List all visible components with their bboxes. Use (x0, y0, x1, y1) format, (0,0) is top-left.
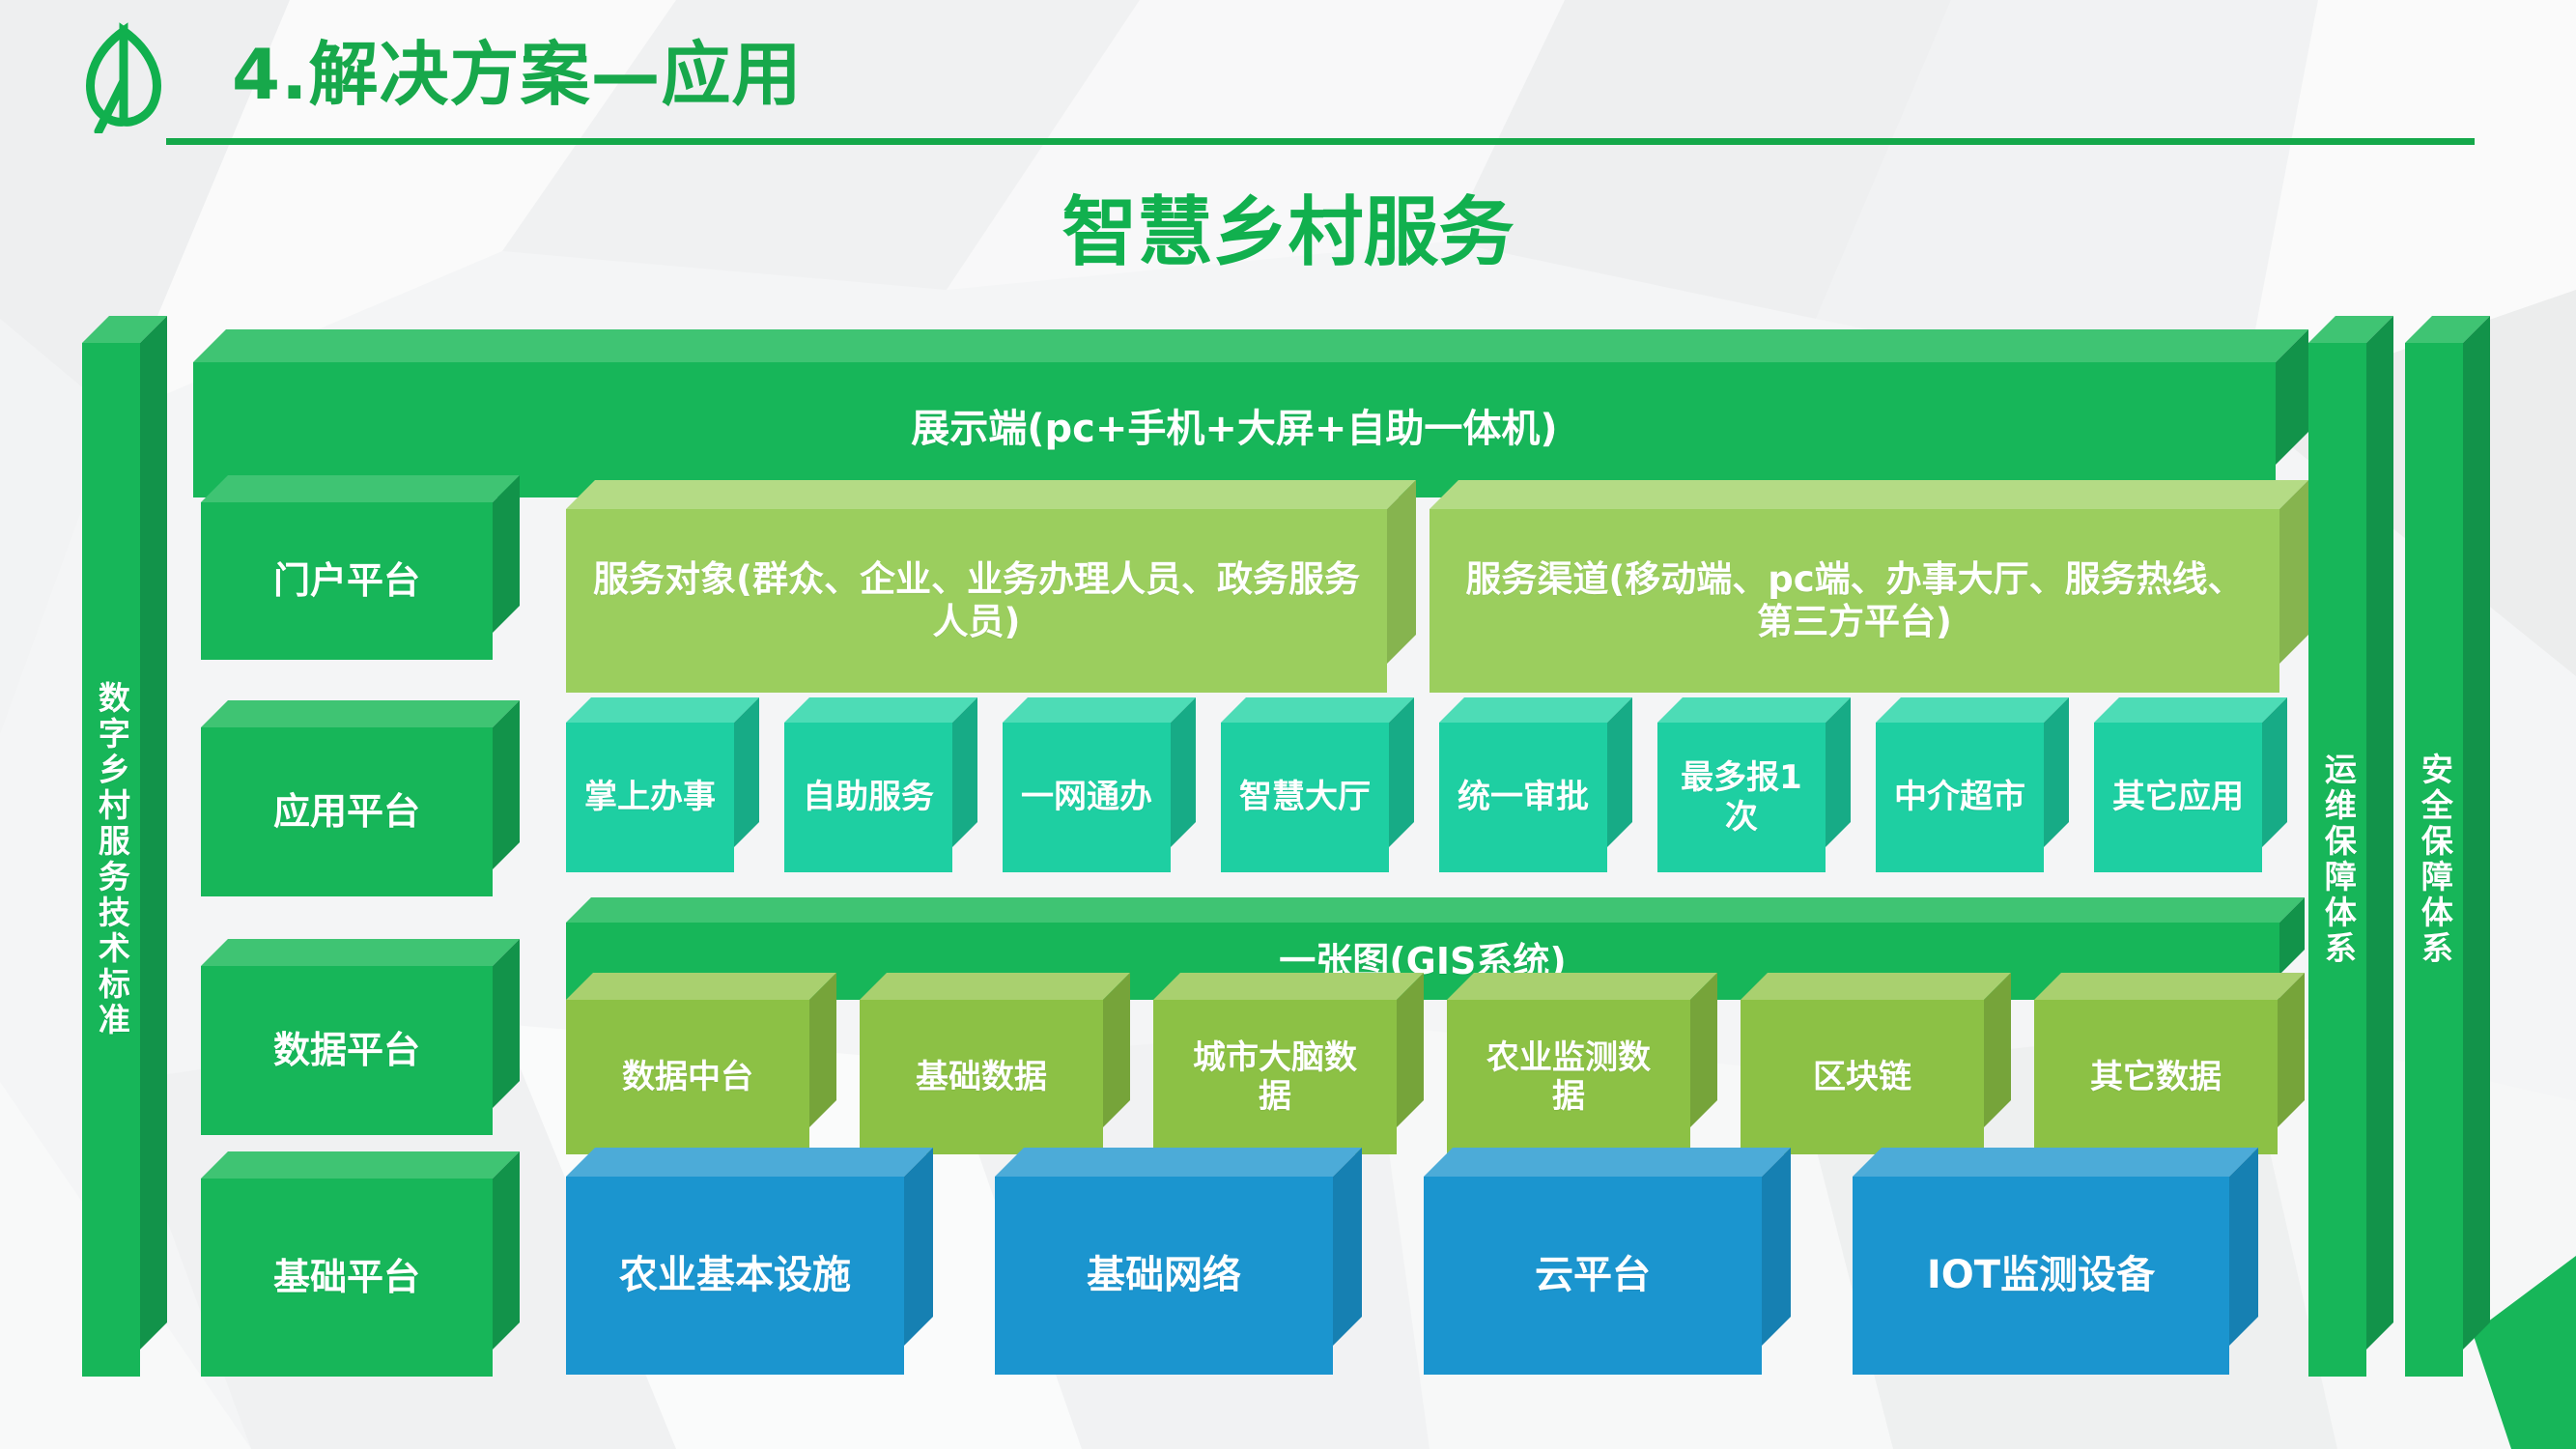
data-tile-2-top-face (1153, 973, 1424, 1000)
base-tile-3-label: IOT监测设备 (1853, 1177, 2229, 1375)
data-tile-5[interactable]: 其它数据 (2034, 1000, 2305, 1154)
data-tile-2-side-face (1397, 973, 1424, 1127)
app-tile-0-label: 掌上办事 (566, 723, 734, 872)
app-tile-4[interactable]: 统一审批 (1439, 723, 1632, 872)
band-gis-top-face (566, 897, 2305, 923)
app-tile-6-side-face (2044, 697, 2069, 847)
leaf-icon (64, 17, 180, 133)
base-tile-1[interactable]: 基础网络 (995, 1177, 1362, 1375)
data-tile-2-label: 城市大脑数据 (1153, 1000, 1397, 1154)
base-tile-2[interactable]: 云平台 (1424, 1177, 1791, 1375)
portal-targets-side-face (1387, 480, 1416, 664)
layer-base-top-face (201, 1151, 520, 1179)
data-tile-3[interactable]: 农业监测数据 (1447, 1000, 1717, 1154)
base-tile-2-top-face (1424, 1148, 1791, 1177)
data-tile-4[interactable]: 区块链 (1741, 1000, 2011, 1154)
diagram-title: 智慧乡村服务 (0, 172, 2576, 280)
app-tile-3-top-face (1221, 697, 1414, 723)
pillar-left-standard[interactable]: 数字乡村服务技术标准 (82, 343, 167, 1377)
layer-application-label: 应用平台 (201, 727, 493, 896)
data-tile-5-label: 其它数据 (2034, 1000, 2278, 1154)
pillar-right-ops[interactable]: 运维保障体系 (2308, 343, 2393, 1377)
app-tile-7[interactable]: 其它应用 (2094, 723, 2287, 872)
app-tile-1-top-face (784, 697, 977, 723)
app-tile-0-side-face (734, 697, 759, 847)
app-tile-1-side-face (952, 697, 977, 847)
base-tile-1-top-face (995, 1148, 1362, 1177)
app-tile-4-label: 统一审批 (1439, 723, 1607, 872)
app-tile-7-top-face (2094, 697, 2287, 723)
data-tile-5-top-face (2034, 973, 2305, 1000)
app-tile-5-side-face (1826, 697, 1851, 847)
pillar-left-label: 数字乡村服务技术标准 (82, 343, 140, 1377)
base-tile-0-label: 农业基本设施 (566, 1177, 904, 1375)
layer-base-side-face (493, 1151, 520, 1350)
layer-data[interactable]: 数据平台 (201, 966, 520, 1135)
data-tile-1-label: 基础数据 (860, 1000, 1103, 1154)
data-tile-0-side-face (809, 973, 836, 1127)
app-tile-5-top-face (1657, 697, 1851, 723)
layer-data-side-face (493, 939, 520, 1108)
app-tile-4-side-face (1607, 697, 1632, 847)
app-tile-7-label: 其它应用 (2094, 723, 2262, 872)
app-tile-2-side-face (1171, 697, 1196, 847)
data-tile-4-top-face (1741, 973, 2011, 1000)
pillar-security-label: 安全保障体系 (2405, 343, 2463, 1377)
data-tile-3-side-face (1690, 973, 1717, 1127)
pillar-ops-side-face (2366, 316, 2393, 1350)
app-tile-2[interactable]: 一网通办 (1003, 723, 1196, 872)
app-tile-5[interactable]: 最多报1次 (1657, 723, 1851, 872)
app-tile-6-label: 中介超市 (1876, 723, 2044, 872)
portal-channels-label: 服务渠道(移动端、pc端、办事大厅、服务热线、第三方平台) (1430, 509, 2279, 693)
portal-channels-top-face (1430, 480, 2308, 509)
app-tile-3-label: 智慧大厅 (1221, 723, 1389, 872)
portal-service-channels[interactable]: 服务渠道(移动端、pc端、办事大厅、服务热线、第三方平台) (1430, 509, 2308, 693)
base-tile-1-side-face (1333, 1148, 1362, 1346)
layer-portal-label: 门户平台 (201, 502, 493, 660)
app-tile-3-side-face (1389, 697, 1414, 847)
layer-data-top-face (201, 939, 520, 966)
data-tile-3-label: 农业监测数据 (1447, 1000, 1690, 1154)
base-tile-2-label: 云平台 (1424, 1177, 1762, 1375)
data-tile-4-side-face (1984, 973, 2011, 1127)
data-tile-1[interactable]: 基础数据 (860, 1000, 1130, 1154)
base-tile-3-top-face (1853, 1148, 2258, 1177)
portal-service-targets[interactable]: 服务对象(群众、企业、业务办理人员、政务服务人员) (566, 509, 1416, 693)
portal-targets-label: 服务对象(群众、企业、业务办理人员、政务服务人员) (566, 509, 1387, 693)
data-tile-5-side-face (2278, 973, 2305, 1127)
pillar-right-security[interactable]: 安全保障体系 (2405, 343, 2490, 1377)
layer-portal-side-face (493, 475, 520, 633)
layer-data-label: 数据平台 (201, 966, 493, 1135)
data-tile-0-top-face (566, 973, 836, 1000)
app-tile-2-top-face (1003, 697, 1196, 723)
data-tile-0-label: 数据中台 (566, 1000, 809, 1154)
data-tile-1-top-face (860, 973, 1130, 1000)
layer-application[interactable]: 应用平台 (201, 727, 520, 896)
portal-channels-side-face (2279, 480, 2308, 664)
app-tile-0[interactable]: 掌上办事 (566, 723, 759, 872)
header-divider (166, 138, 2475, 145)
band-display-top-face (193, 329, 2308, 362)
pillar-left-side-face (140, 316, 167, 1350)
data-tile-0[interactable]: 数据中台 (566, 1000, 836, 1154)
portal-targets-top-face (566, 480, 1416, 509)
app-tile-0-top-face (566, 697, 759, 723)
layer-base[interactable]: 基础平台 (201, 1179, 520, 1377)
data-tile-1-side-face (1103, 973, 1130, 1127)
data-tile-2[interactable]: 城市大脑数据 (1153, 1000, 1424, 1154)
base-tile-0[interactable]: 农业基本设施 (566, 1177, 933, 1375)
app-tile-7-side-face (2262, 697, 2287, 847)
base-tile-3[interactable]: IOT监测设备 (1853, 1177, 2258, 1375)
base-tile-0-side-face (904, 1148, 933, 1346)
app-tile-1[interactable]: 自助服务 (784, 723, 977, 872)
pillar-security-side-face (2463, 316, 2490, 1350)
layer-application-side-face (493, 700, 520, 869)
base-tile-3-side-face (2229, 1148, 2258, 1346)
app-tile-2-label: 一网通办 (1003, 723, 1171, 872)
layer-application-top-face (201, 700, 520, 727)
base-tile-0-top-face (566, 1148, 933, 1177)
page-heading: 4.解决方案—应用 (232, 17, 802, 119)
app-tile-1-label: 自助服务 (784, 723, 952, 872)
pillar-ops-label: 运维保障体系 (2308, 343, 2366, 1377)
app-tile-5-label: 最多报1次 (1657, 723, 1826, 872)
layer-portal[interactable]: 门户平台 (201, 502, 520, 660)
app-tile-6-top-face (1876, 697, 2069, 723)
app-tile-4-top-face (1439, 697, 1632, 723)
data-tile-3-top-face (1447, 973, 1717, 1000)
base-tile-1-label: 基础网络 (995, 1177, 1333, 1375)
layer-base-label: 基础平台 (201, 1179, 493, 1377)
layer-portal-top-face (201, 475, 520, 502)
slide-header: 4.解决方案—应用 (0, 0, 2576, 155)
data-tile-4-label: 区块链 (1741, 1000, 1984, 1154)
base-tile-2-side-face (1762, 1148, 1791, 1346)
app-tile-6[interactable]: 中介超市 (1876, 723, 2069, 872)
app-tile-3[interactable]: 智慧大厅 (1221, 723, 1414, 872)
